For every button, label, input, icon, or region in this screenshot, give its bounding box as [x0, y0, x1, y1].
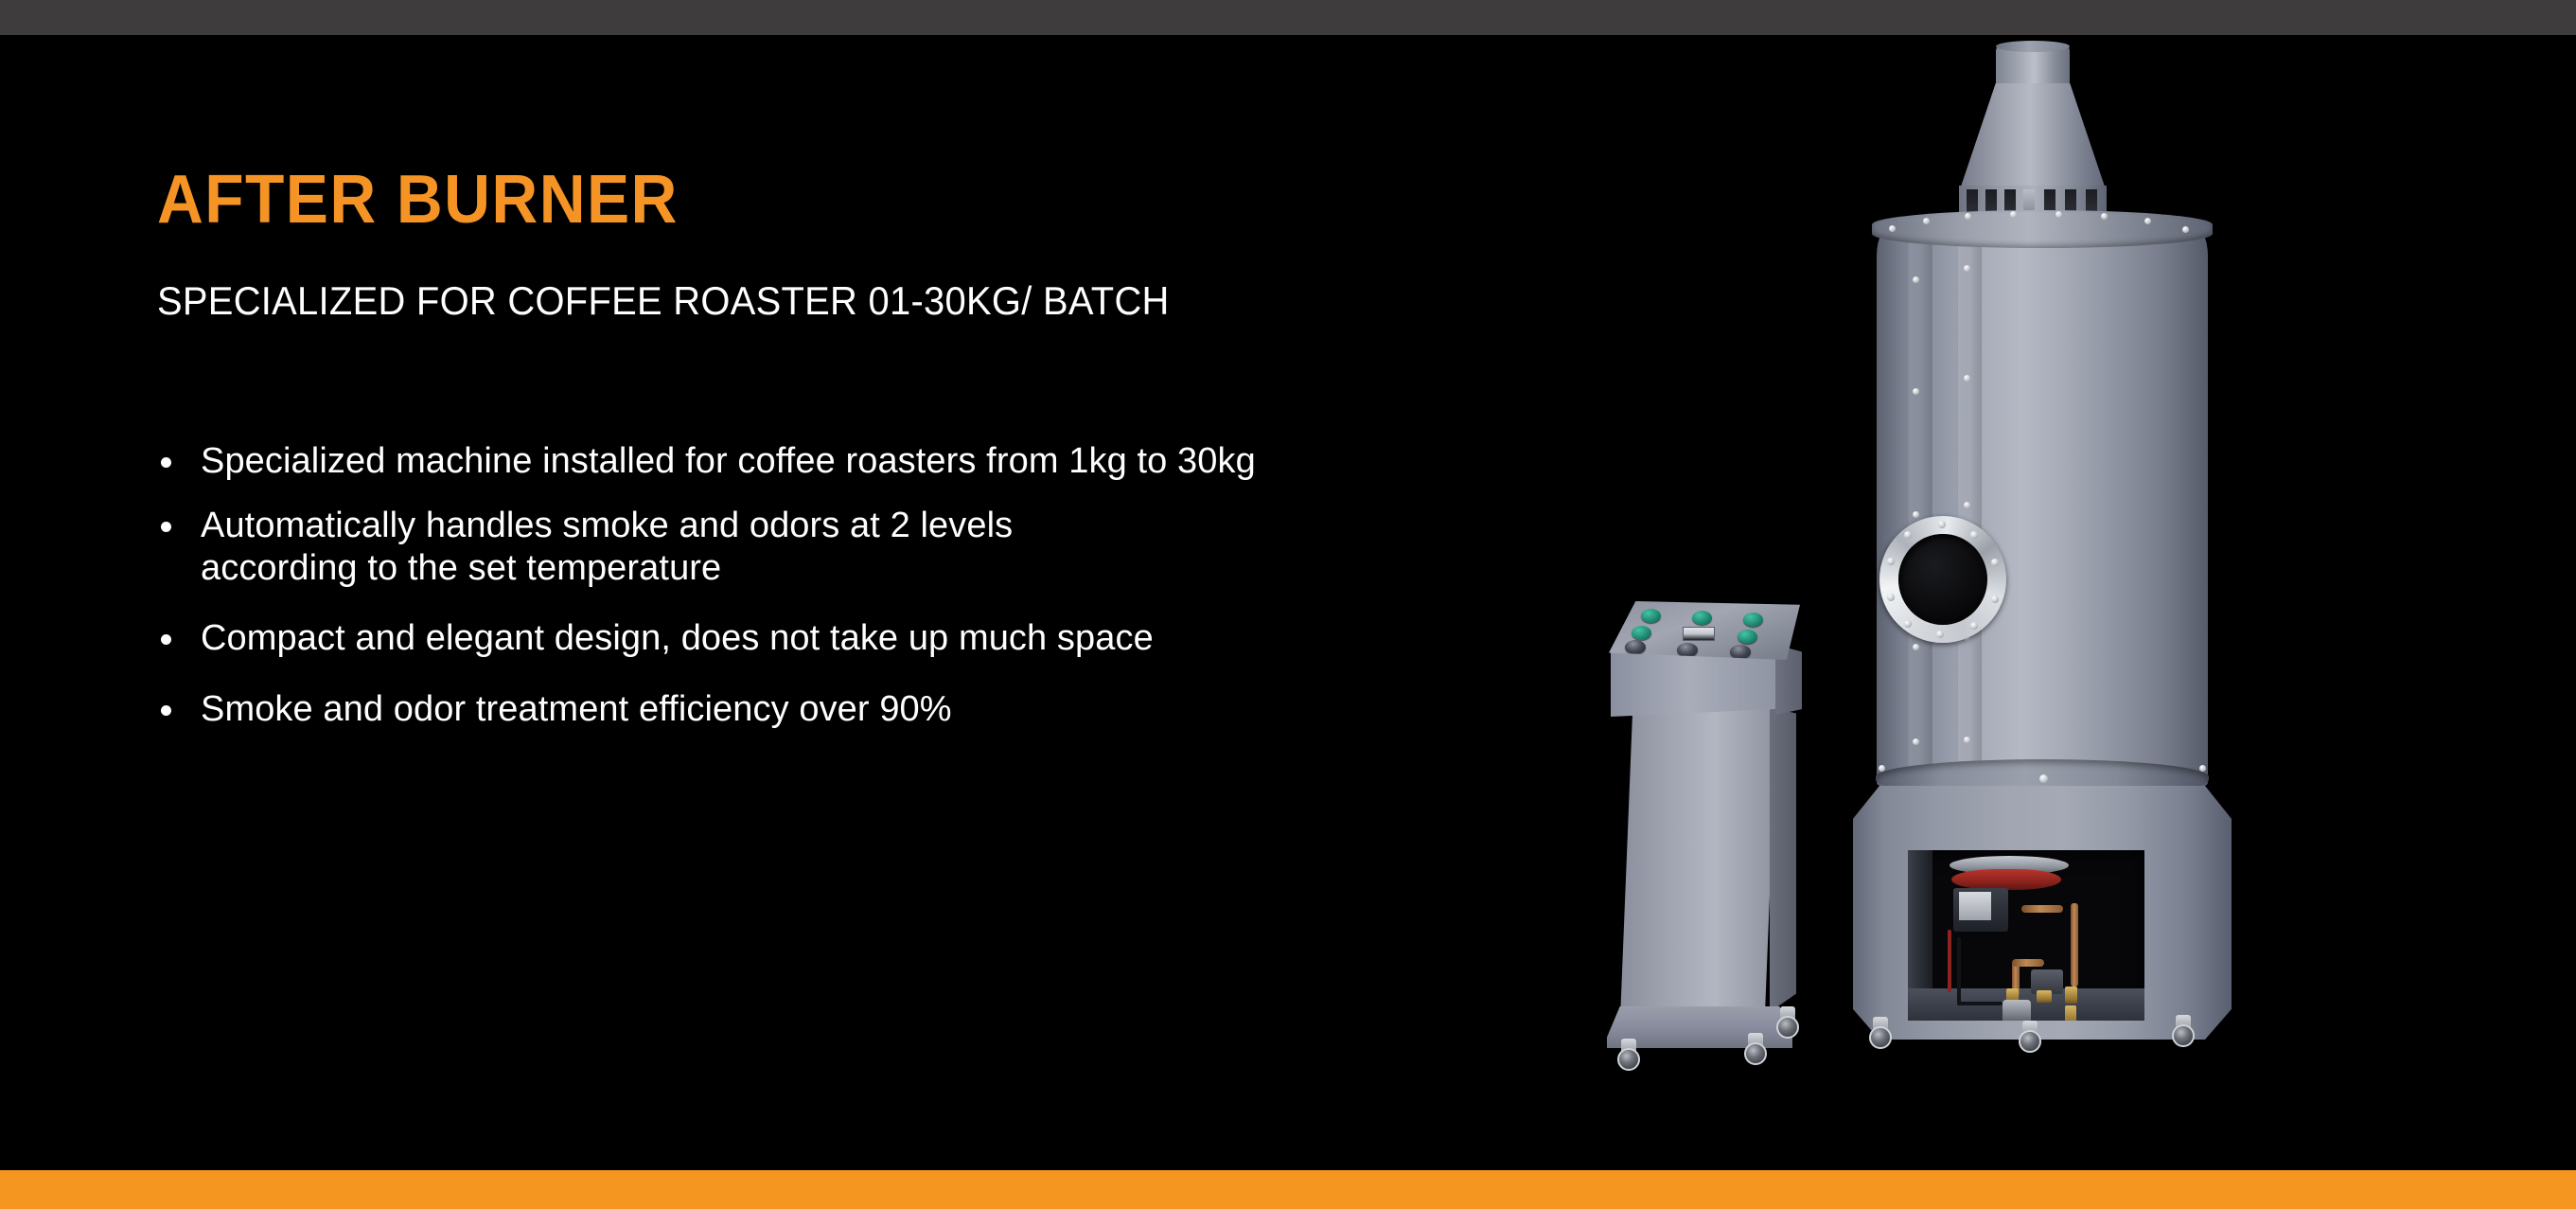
control-panel-plate	[1609, 601, 1800, 660]
indicator-light-icon	[1743, 613, 1763, 627]
control-knob-icon[interactable]	[1730, 645, 1751, 659]
bullet-text: Specialized machine installed for coffee…	[201, 441, 1256, 481]
bullet-dot-icon	[161, 705, 171, 716]
port-opening	[1898, 534, 1987, 625]
bullet-dot-icon	[161, 522, 171, 532]
page-title: AFTER BURNER	[157, 166, 1447, 234]
circular-inspection-port	[1879, 516, 2006, 643]
list-item: Automatically handles smoke and odors at…	[157, 505, 1147, 590]
black-wire	[1957, 1002, 2003, 1005]
control-knob-icon[interactable]	[1677, 643, 1698, 657]
brass-fitting	[2037, 990, 2052, 1003]
caster-icon	[1616, 1039, 1641, 1071]
top-collar-band	[1872, 210, 2213, 248]
list-item: Specialized machine installed for coffee…	[157, 440, 1501, 483]
bullet-text: Smoke and odor treatment efficiency over…	[201, 689, 952, 729]
page-subtitle: SPECIALIZED FOR COFFEE ROASTER 01-30KG/ …	[157, 281, 1461, 321]
cabinet-body-side	[1770, 707, 1796, 1012]
slide: AFTER BURNER SPECIALIZED FOR COFFEE ROAS…	[0, 0, 2576, 1209]
bullet-text: Automatically handles smoke and odors at…	[201, 506, 1013, 588]
caster-icon	[1775, 1006, 1800, 1039]
caster-icon	[2018, 1021, 2042, 1053]
panel-display	[1683, 627, 1715, 641]
indicator-light-icon	[1632, 626, 1651, 640]
bullet-text: Compact and elegant design, does not tak…	[201, 618, 1154, 658]
product-photo	[1599, 38, 2262, 1079]
list-item: Smoke and odor treatment efficiency over…	[157, 688, 1501, 731]
indicator-light-icon	[1692, 611, 1712, 625]
gas-filter-cup	[2003, 1000, 2031, 1021]
bullet-dot-icon	[161, 457, 171, 468]
chimney-cone	[1960, 83, 2106, 189]
caster-icon	[2171, 1015, 2196, 1047]
list-item: Compact and elegant design, does not tak…	[157, 617, 1501, 660]
burner-compartment-opening	[1908, 850, 2144, 1021]
indicator-light-icon	[1641, 609, 1661, 623]
chimney-pipe	[1996, 45, 2070, 89]
copper-gas-line	[2071, 903, 2078, 987]
feature-bullet-list: Specialized machine installed for coffee…	[157, 440, 1501, 753]
caster-icon	[1868, 1017, 1893, 1049]
copper-gas-line	[2012, 959, 2044, 967]
cabinet-body	[1620, 707, 1777, 1020]
brass-fitting	[2065, 1005, 2076, 1021]
caster-icon	[1743, 1033, 1768, 1065]
body-seam-strip	[1908, 231, 1932, 774]
copper-gas-line	[2021, 905, 2063, 913]
bullet-dot-icon	[161, 634, 171, 645]
control-knob-icon[interactable]	[1625, 640, 1646, 654]
brass-fitting	[2065, 987, 2077, 1004]
burner-control-box	[1959, 892, 1991, 920]
text-column: AFTER BURNER SPECIALIZED FOR COFFEE ROAS…	[157, 166, 1529, 321]
top-accent-bar	[0, 0, 2576, 35]
burner-assembly	[1951, 869, 2061, 890]
control-panel-cabinet	[1599, 601, 1817, 1065]
afterburner-tower	[1853, 38, 2232, 1070]
black-wire	[1957, 937, 1961, 1005]
red-wire	[1948, 930, 1951, 992]
indicator-light-icon	[1738, 630, 1757, 644]
bottom-accent-bar	[0, 1170, 2576, 1209]
